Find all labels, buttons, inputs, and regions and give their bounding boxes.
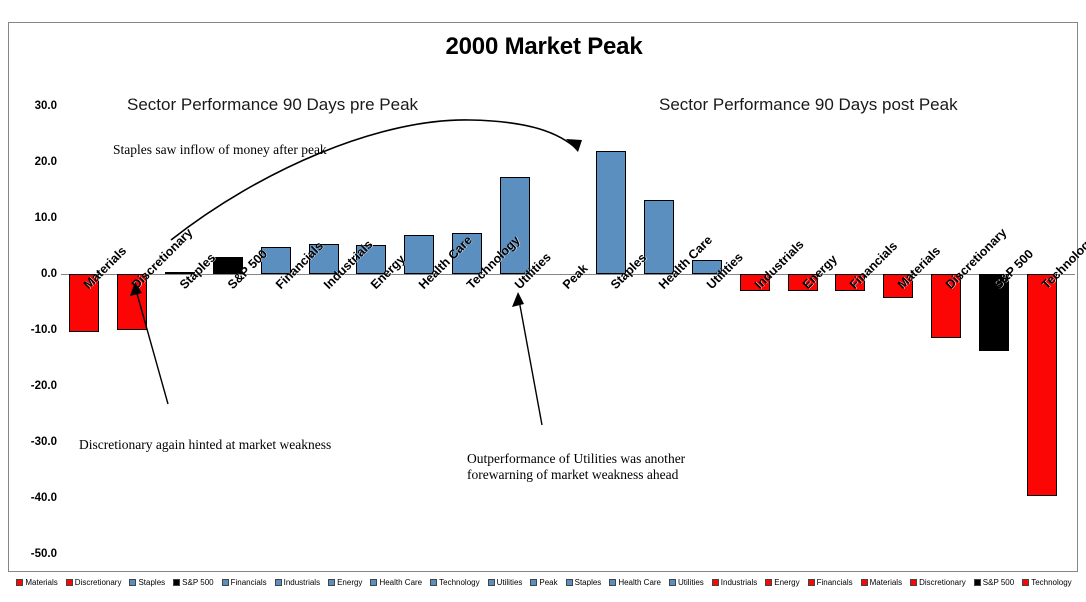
legend-swatch-icon xyxy=(765,579,772,586)
legend-label: Industrials xyxy=(284,578,320,587)
legend-item-10[interactable]: Peak xyxy=(530,578,557,587)
legend-label: Energy xyxy=(337,578,362,587)
y-axis-tick: -40.0 xyxy=(13,492,57,504)
legend-swatch-icon xyxy=(66,579,73,586)
legend-item-4[interactable]: Financials xyxy=(222,578,267,587)
y-axis: 30.020.010.00.0-10.0-20.0-30.0-40.0-50.0 xyxy=(9,53,57,553)
legend-item-6[interactable]: Energy xyxy=(328,578,362,587)
legend-swatch-icon xyxy=(129,579,136,586)
legend-label: Materials xyxy=(870,578,902,587)
y-axis-tick: 30.0 xyxy=(13,100,57,112)
legend-item-3[interactable]: S&P 500 xyxy=(173,578,213,587)
legend-label: Staples xyxy=(575,578,602,587)
legend-item-5[interactable]: Industrials xyxy=(275,578,320,587)
legend-swatch-icon xyxy=(173,579,180,586)
legend-swatch-icon xyxy=(566,579,573,586)
legend-item-13[interactable]: Utilities xyxy=(669,578,704,587)
legend-label: Energy xyxy=(774,578,799,587)
category-label-20: Technology xyxy=(1039,233,1086,292)
legend-item-20[interactable]: Technology xyxy=(1022,578,1071,587)
legend-swatch-icon xyxy=(430,579,437,586)
y-axis-tick: -50.0 xyxy=(13,548,57,560)
legend-item-16[interactable]: Financials xyxy=(808,578,853,587)
legend-item-19[interactable]: S&P 500 xyxy=(974,578,1014,587)
legend-item-7[interactable]: Health Care xyxy=(370,578,422,587)
legend-swatch-icon xyxy=(530,579,537,586)
legend-item-18[interactable]: Discretionary xyxy=(910,578,966,587)
legend-item-14[interactable]: Industrials xyxy=(712,578,757,587)
category-label-10: Peak xyxy=(560,261,591,292)
legend-swatch-icon xyxy=(669,579,676,586)
y-axis-tick: 10.0 xyxy=(13,212,57,224)
legend-label: Utilities xyxy=(678,578,704,587)
legend-label: Materials xyxy=(25,578,57,587)
y-axis-tick: -10.0 xyxy=(13,324,57,336)
legend-label: Health Care xyxy=(618,578,661,587)
legend-swatch-icon xyxy=(712,579,719,586)
legend-label: Technology xyxy=(439,578,479,587)
legend-label: Financials xyxy=(817,578,853,587)
bar-health-care-12[interactable] xyxy=(644,200,674,274)
legend-swatch-icon xyxy=(861,579,868,586)
bar-staples-11[interactable] xyxy=(596,151,626,274)
chart-frame: 2000 Market Peak Sector Performance 90 D… xyxy=(8,22,1078,572)
y-axis-tick: 0.0 xyxy=(13,268,57,280)
legend-label: Technology xyxy=(1031,578,1071,587)
legend-label: Health Care xyxy=(379,578,422,587)
legend-item-8[interactable]: Technology xyxy=(430,578,479,587)
y-axis-tick: -30.0 xyxy=(13,436,57,448)
legend-swatch-icon xyxy=(609,579,616,586)
legend-label: Industrials xyxy=(721,578,757,587)
annotation-utilities: Outperformance of Utilities was another … xyxy=(467,451,685,484)
legend-item-12[interactable]: Health Care xyxy=(609,578,661,587)
legend-label: Discretionary xyxy=(919,578,966,587)
legend-swatch-icon xyxy=(808,579,815,586)
legend-item-2[interactable]: Staples xyxy=(129,578,165,587)
y-axis-tick: -20.0 xyxy=(13,380,57,392)
legend-label: Peak xyxy=(539,578,557,587)
legend-swatch-icon xyxy=(328,579,335,586)
legend-label: Staples xyxy=(138,578,165,587)
y-axis-tick: 20.0 xyxy=(13,156,57,168)
legend-label: Utilities xyxy=(497,578,523,587)
legend-item-11[interactable]: Staples xyxy=(566,578,602,587)
category-label-15: Energy xyxy=(800,252,840,292)
legend-item-0[interactable]: Materials xyxy=(16,578,57,587)
annotation-staples: Staples saw inflow of money after peak xyxy=(113,142,327,158)
legend-swatch-icon xyxy=(910,579,917,586)
legend-swatch-icon xyxy=(1022,579,1029,586)
legend-item-15[interactable]: Energy xyxy=(765,578,799,587)
legend-label: Discretionary xyxy=(75,578,122,587)
annotation-discretionary: Discretionary again hinted at market wea… xyxy=(79,437,331,453)
chart-legend: MaterialsDiscretionaryStaplesS&P 500Fina… xyxy=(21,573,1067,591)
legend-item-9[interactable]: Utilities xyxy=(488,578,523,587)
legend-label: Financials xyxy=(231,578,267,587)
legend-swatch-icon xyxy=(370,579,377,586)
legend-swatch-icon xyxy=(974,579,981,586)
legend-swatch-icon xyxy=(222,579,229,586)
legend-swatch-icon xyxy=(16,579,23,586)
legend-item-17[interactable]: Materials xyxy=(861,578,902,587)
legend-swatch-icon xyxy=(275,579,282,586)
bar-technology-20[interactable] xyxy=(1027,274,1057,496)
legend-label: S&P 500 xyxy=(983,578,1014,587)
legend-label: S&P 500 xyxy=(182,578,213,587)
legend-swatch-icon xyxy=(488,579,495,586)
chart-screenshot: 2000 Market Peak Sector Performance 90 D… xyxy=(0,0,1086,602)
legend-item-1[interactable]: Discretionary xyxy=(66,578,122,587)
